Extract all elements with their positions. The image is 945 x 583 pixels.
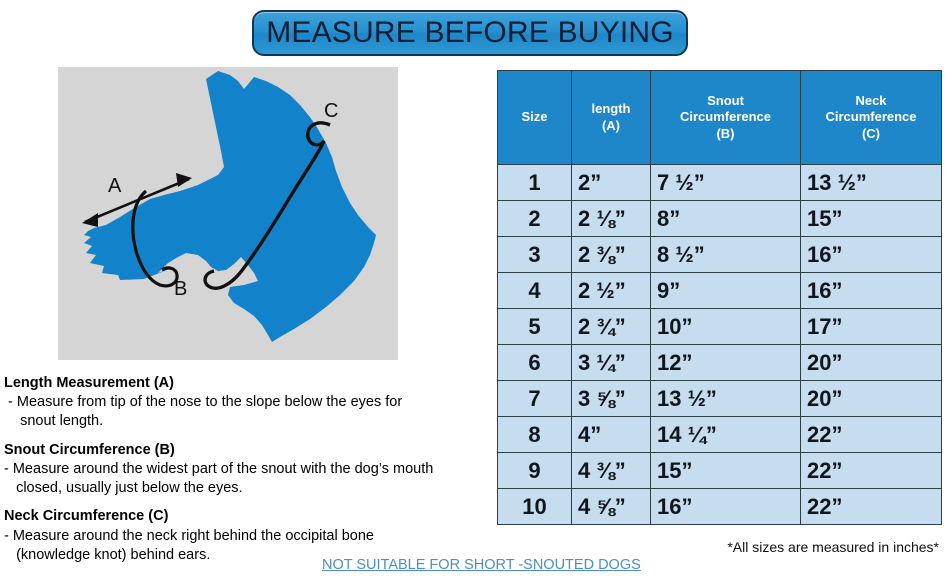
table-row: 4 2 ½” 9” 16” (498, 273, 942, 309)
cell-size: 8 (498, 417, 572, 453)
cell-size: 10 (498, 489, 572, 525)
cell-length: 2 ⅛” (572, 201, 651, 237)
cell-neck: 20” (801, 345, 942, 381)
units-footnote: *All sizes are measured in inches* (727, 539, 939, 555)
cell-neck: 15” (801, 201, 942, 237)
cell-size: 7 (498, 381, 572, 417)
measure-c-label: C (324, 100, 338, 122)
instruction-line: - Measure from tip of the nose to the sl… (4, 393, 484, 412)
cell-snout: 10” (651, 309, 801, 345)
measure-b-label: B (174, 278, 187, 300)
title-banner: MEASURE BEFORE BUYING (252, 10, 688, 56)
cell-snout: 15” (651, 453, 801, 489)
not-suitable-note: NOT SUITABLE FOR SHORT -SNOUTED DOGS (322, 557, 641, 573)
column-header-snout-circumference: Snout Circumference (B) (651, 71, 801, 165)
table-row: 5 2 ¾” 10” 17” (498, 309, 942, 345)
cell-neck: 22” (801, 417, 942, 453)
table-row: 10 4 ⅝” 16” 22” (498, 489, 942, 525)
instruction-heading: Snout Circumference (B) (4, 441, 484, 459)
cell-length: 2 ⅜” (572, 237, 651, 273)
column-header-line: (C) (804, 126, 938, 143)
instruction-line: snout length. (4, 412, 484, 431)
instruction-line: - Measure around the neck right behind t… (4, 527, 484, 546)
table-header: Size length (A) Snout Circumference (B) … (498, 71, 942, 165)
instruction-block-a: Length Measurement (A) - Measure from ti… (4, 374, 484, 432)
column-header-line: Neck (804, 93, 938, 110)
cell-length: 4” (572, 417, 651, 453)
cell-snout: 14 ¼” (651, 417, 801, 453)
dog-head-diagram: A B C (58, 67, 398, 360)
cell-length: 4 ⅜” (572, 453, 651, 489)
table-row: 8 4” 14 ¼” 22” (498, 417, 942, 453)
measurement-instructions: Length Measurement (A) - Measure from ti… (4, 374, 484, 574)
column-header-line: Circumference (804, 109, 938, 126)
cell-neck: 16” (801, 237, 942, 273)
cell-neck: 20” (801, 381, 942, 417)
cell-snout: 9” (651, 273, 801, 309)
column-header-size: Size (498, 71, 572, 165)
cell-size: 2 (498, 201, 572, 237)
cell-length: 3 ¼” (572, 345, 651, 381)
instruction-heading: Neck Circumference (C) (4, 507, 484, 525)
cell-size: 3 (498, 237, 572, 273)
column-header-line: Size (501, 109, 568, 126)
table-body: 1 2” 7 ½” 13 ½” 2 2 ⅛” 8” 15” 3 2 ⅜” 8 ½… (498, 165, 942, 525)
cell-size: 9 (498, 453, 572, 489)
cell-neck: 13 ½” (801, 165, 942, 201)
cell-neck: 22” (801, 489, 942, 525)
column-header-line: Circumference (654, 109, 797, 126)
column-header-line: (A) (575, 118, 647, 135)
column-header-line: length (575, 101, 647, 118)
column-header-line: (B) (654, 126, 797, 143)
dog-measurement-illustration: A B C (58, 67, 398, 360)
cell-snout: 8 ½” (651, 237, 801, 273)
instruction-line: - Measure around the widest part of the … (4, 460, 484, 479)
measure-a-arrowhead-left (82, 213, 98, 227)
table-row: 1 2” 7 ½” 13 ½” (498, 165, 942, 201)
size-chart-table: Size length (A) Snout Circumference (B) … (497, 70, 942, 525)
cell-size: 5 (498, 309, 572, 345)
instruction-block-b: Snout Circumference (B) - Measure around… (4, 441, 484, 499)
cell-size: 6 (498, 345, 572, 381)
cell-size: 1 (498, 165, 572, 201)
cell-snout: 16” (651, 489, 801, 525)
cell-length: 4 ⅝” (572, 489, 651, 525)
table-row: 7 3 ⅝” 13 ½” 20” (498, 381, 942, 417)
cell-neck: 16” (801, 273, 942, 309)
cell-neck: 17” (801, 309, 942, 345)
table-row: 9 4 ⅜” 15” 22” (498, 453, 942, 489)
column-header-length: length (A) (572, 71, 651, 165)
cell-length: 2 ½” (572, 273, 651, 309)
cell-length: 3 ⅝” (572, 381, 651, 417)
page-title: MEASURE BEFORE BUYING (266, 18, 674, 48)
column-header-line: Snout (654, 93, 797, 110)
table-header-row: Size length (A) Snout Circumference (B) … (498, 71, 942, 165)
cell-neck: 22” (801, 453, 942, 489)
table-row: 6 3 ¼” 12” 20” (498, 345, 942, 381)
measure-a-arrowhead-right (176, 173, 192, 187)
cell-snout: 12” (651, 345, 801, 381)
cell-length: 2” (572, 165, 651, 201)
cell-size: 4 (498, 273, 572, 309)
instruction-heading: Length Measurement (A) (4, 374, 484, 392)
cell-snout: 13 ½” (651, 381, 801, 417)
cell-snout: 7 ½” (651, 165, 801, 201)
instruction-line: closed, usually just below the eyes. (4, 479, 484, 498)
cell-snout: 8” (651, 201, 801, 237)
cell-length: 2 ¾” (572, 309, 651, 345)
table-row: 3 2 ⅜” 8 ½” 16” (498, 237, 942, 273)
table-row: 2 2 ⅛” 8” 15” (498, 201, 942, 237)
column-header-neck-circumference: Neck Circumference (C) (801, 71, 942, 165)
measure-a-label: A (108, 175, 122, 197)
